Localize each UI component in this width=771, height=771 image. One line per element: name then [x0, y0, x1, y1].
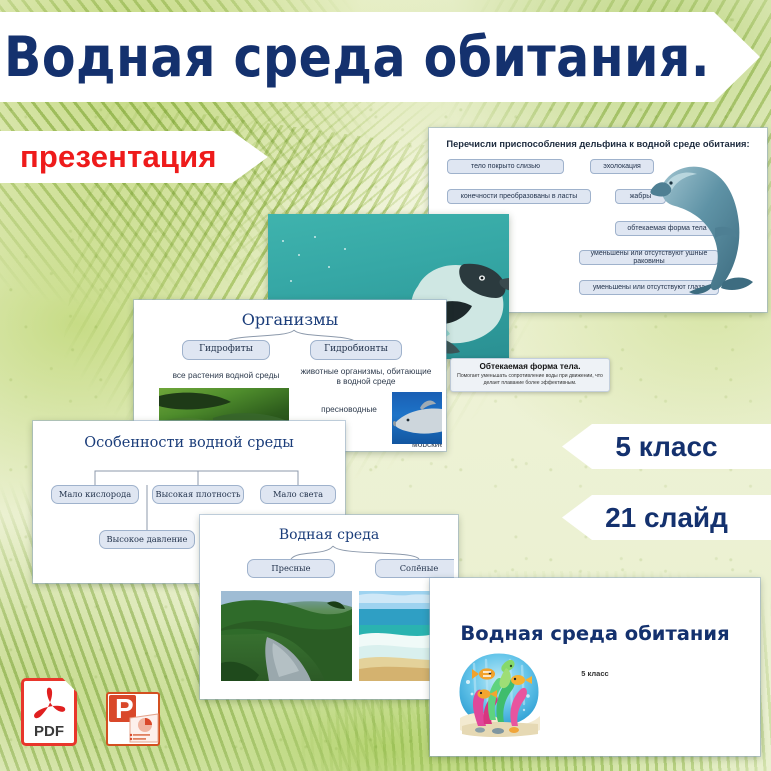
streamline-caption-card: Обтекаемая форма тела. Помогает уменьшат… [450, 358, 610, 392]
badge-grade-label: 5 класс [615, 431, 717, 463]
caption-hydrobionts: животные организмы, обитающие в водной с… [300, 366, 432, 387]
caption-hydrophytes: все растения водной среды [158, 370, 294, 380]
slide-preview-environment[interactable]: Водная среда Пресные Солёные [200, 515, 458, 699]
aquarium-icon [454, 650, 544, 742]
slide-canvas: Водная среда обитания 5 класс [434, 582, 756, 752]
slide-title: Перечисли приспособления дельфина к водн… [433, 139, 763, 149]
slide-canvas: Водная среда Пресные Солёные [204, 519, 454, 695]
page-title: Водная среда обитания. [4, 25, 710, 89]
chip-high-pressure: Высокое давление [99, 530, 195, 549]
badge-grade: 5 класс [562, 424, 771, 469]
slide-preview-cover[interactable]: Водная среда обитания 5 класс [430, 578, 760, 756]
ppt-slide-glyph-icon [106, 692, 160, 746]
chip-freshwater: Пресные [247, 559, 335, 578]
shark-photo [392, 392, 446, 444]
slide-title: Организмы [138, 310, 442, 329]
badge-slide-count: 21 слайд [562, 495, 771, 540]
slide-title: Водная среда [204, 527, 454, 543]
badge-slide-count-label: 21 слайд [605, 502, 728, 534]
chip-low-oxygen: Мало кислорода [51, 485, 139, 504]
dolphin-icon [645, 150, 757, 300]
river-photo [221, 591, 352, 681]
chip-high-density: Высокая плотность [152, 485, 244, 504]
cover-title: Водная среда обитания [434, 622, 756, 645]
powerpoint-file-icon[interactable]: P [106, 692, 160, 746]
caption-heading: Обтекаемая форма тела. [455, 362, 605, 371]
page-title-banner: Водная среда обитания. [0, 12, 760, 102]
acrobat-glyph-icon [27, 686, 71, 722]
chip-saltwater: Солёные [375, 559, 458, 578]
chip-low-light: Мало света [260, 485, 336, 504]
chip-hydrobionts: Гидробионты [310, 340, 402, 360]
chip-hydrophytes: Гидрофиты [182, 340, 270, 360]
chip-item: тело покрыто слизью [447, 159, 564, 174]
pdf-file-icon[interactable]: PDF [21, 678, 77, 746]
chip-item: конечности преобразованы в ласты [447, 189, 591, 204]
subtitle-banner: презентация [0, 131, 268, 183]
label-freshwater: пресноводные [310, 404, 388, 414]
caption-body: Помогает уменьшать сопротивление воды пр… [455, 373, 605, 387]
subtitle-label: презентация [20, 139, 217, 175]
slide-title: Особенности водной среды [37, 435, 341, 451]
pdf-label: PDF [21, 723, 77, 740]
